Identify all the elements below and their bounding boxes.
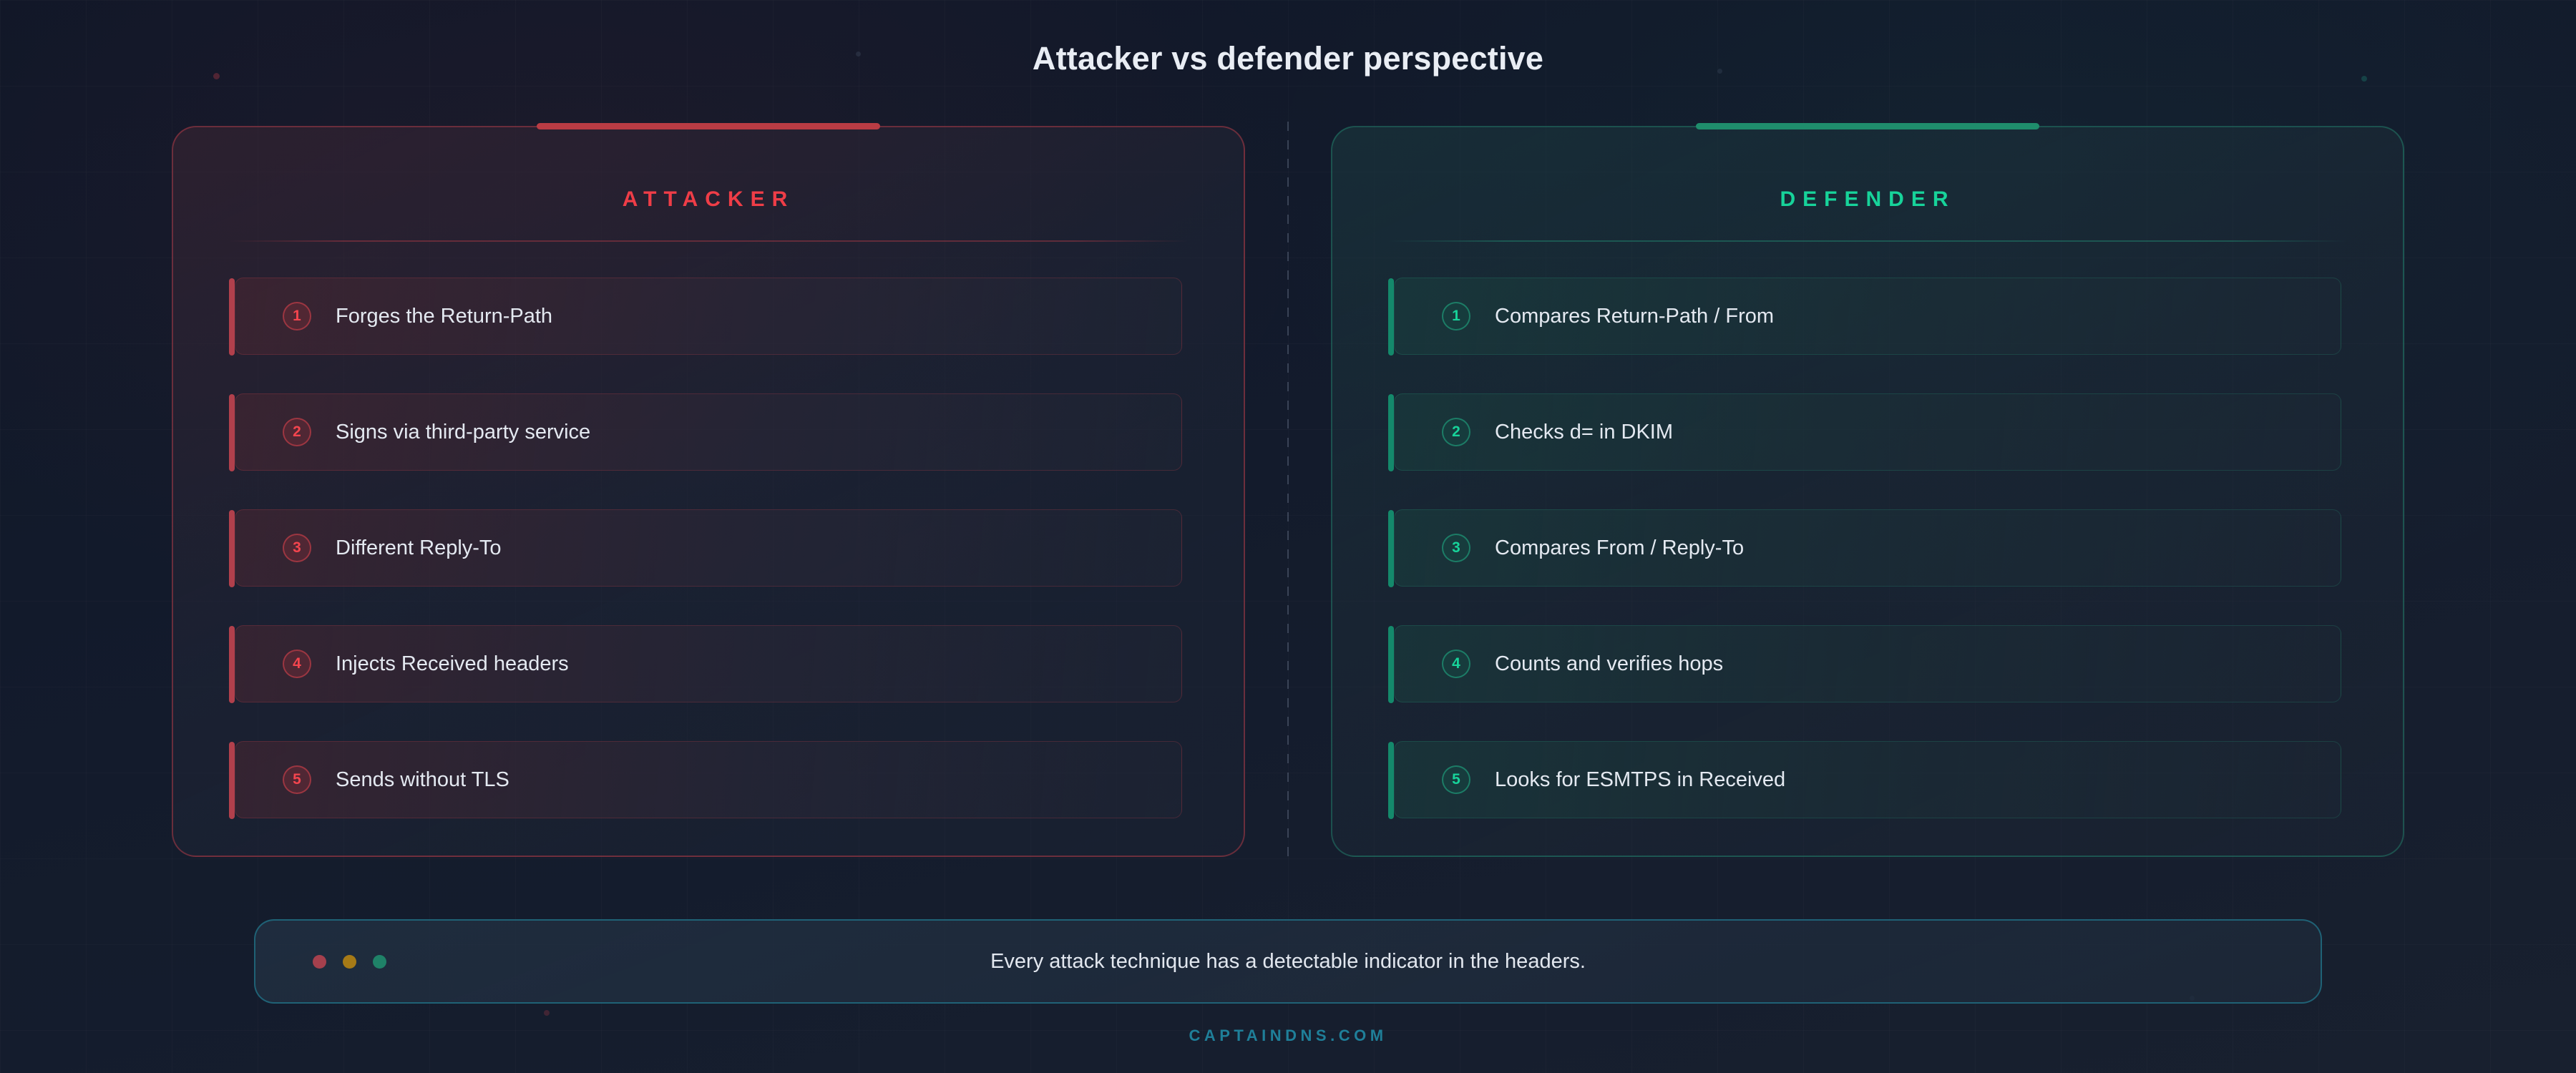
item-number-badge: 3: [1442, 534, 1470, 562]
attacker-item-list: 1 Forges the Return-Path 2 Signs via thi…: [235, 278, 1182, 818]
item-accent-bar: [229, 742, 235, 819]
attacker-panel-divider: [229, 240, 1188, 242]
item-label: Forges the Return-Path: [336, 305, 552, 328]
item-accent-bar: [229, 626, 235, 703]
footer-callout-bar: Every attack technique has a detectable …: [254, 919, 2322, 1004]
item-accent-bar: [1388, 742, 1394, 819]
green-dot: [373, 955, 386, 969]
item-number-badge: 5: [283, 765, 311, 794]
list-item[interactable]: 4 Injects Received headers: [235, 625, 1182, 702]
item-accent-bar: [1388, 626, 1394, 703]
item-label: Sends without TLS: [336, 768, 509, 792]
item-number-badge: 4: [1442, 650, 1470, 678]
window-dots: [313, 955, 386, 969]
item-label: Signs via third-party service: [336, 421, 590, 444]
decorative-speck: [544, 1010, 550, 1016]
list-item[interactable]: 3 Compares From / Reply-To: [1394, 509, 2341, 587]
item-accent-bar: [229, 278, 235, 356]
list-item[interactable]: 5 Looks for ESMTPS in Received: [1394, 741, 2341, 818]
brand-watermark: CAPTAINDNS.COM: [0, 1027, 2576, 1045]
defender-item-list: 1 Compares Return-Path / From 2 Checks d…: [1394, 278, 2341, 818]
item-number-badge: 2: [1442, 418, 1470, 446]
item-label: Different Reply-To: [336, 536, 502, 560]
page-title: Attacker vs defender perspective: [0, 40, 2576, 77]
item-accent-bar: [1388, 510, 1394, 587]
item-number-badge: 5: [1442, 765, 1470, 794]
list-item[interactable]: 5 Sends without TLS: [235, 741, 1182, 818]
amber-dot: [343, 955, 356, 969]
item-accent-bar: [229, 394, 235, 471]
panel-center-divider: [1287, 122, 1289, 858]
item-label: Compares Return-Path / From: [1495, 305, 1774, 328]
item-number-badge: 3: [283, 534, 311, 562]
item-label: Checks d= in DKIM: [1495, 421, 1673, 444]
item-label: Injects Received headers: [336, 652, 569, 676]
item-accent-bar: [229, 510, 235, 587]
item-label: Looks for ESMTPS in Received: [1495, 768, 1785, 792]
attacker-accent-bar: [537, 123, 880, 129]
attacker-panel: ATTACKER 1 Forges the Return-Path 2 Sign…: [172, 126, 1245, 857]
attacker-panel-heading: ATTACKER: [172, 187, 1245, 212]
item-number-badge: 4: [283, 650, 311, 678]
list-item[interactable]: 2 Signs via third-party service: [235, 393, 1182, 471]
list-item[interactable]: 3 Different Reply-To: [235, 509, 1182, 587]
defender-panel-heading: DEFENDER: [1331, 187, 2404, 212]
item-number-badge: 2: [283, 418, 311, 446]
defender-panel-divider: [1388, 240, 2347, 242]
defender-accent-bar: [1696, 123, 2039, 129]
list-item[interactable]: 1 Forges the Return-Path: [235, 278, 1182, 355]
list-item[interactable]: 4 Counts and verifies hops: [1394, 625, 2341, 702]
item-label: Compares From / Reply-To: [1495, 536, 1744, 560]
list-item[interactable]: 2 Checks d= in DKIM: [1394, 393, 2341, 471]
defender-panel: DEFENDER 1 Compares Return-Path / From 2…: [1331, 126, 2404, 857]
list-item[interactable]: 1 Compares Return-Path / From: [1394, 278, 2341, 355]
footer-caption: Every attack technique has a detectable …: [255, 950, 2321, 974]
slide-stage: Attacker vs defender perspective ATTACKE…: [0, 0, 2576, 1073]
item-label: Counts and verifies hops: [1495, 652, 1723, 676]
item-accent-bar: [1388, 278, 1394, 356]
item-number-badge: 1: [283, 302, 311, 330]
red-dot: [313, 955, 326, 969]
item-number-badge: 1: [1442, 302, 1470, 330]
item-accent-bar: [1388, 394, 1394, 471]
